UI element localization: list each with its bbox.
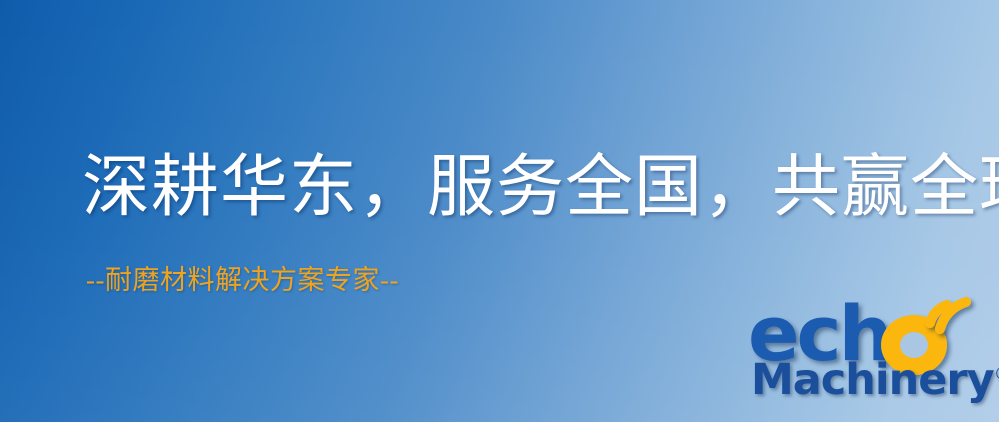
hero-banner: 深耕华东，服务全国，共赢全球 --耐磨材料解决方案专家-- ech <box>0 0 999 422</box>
logo-subword: Machinery® <box>751 359 999 402</box>
banner-headline: 深耕华东，服务全国，共赢全球 <box>82 152 999 223</box>
banner-subtitle: --耐磨材料解决方案专家-- <box>86 266 399 296</box>
echo-machinery-logo[interactable]: ech Machinery® <box>748 296 999 422</box>
registered-trademark-icon: ® <box>994 363 999 385</box>
logo-subword-text: Machinery <box>751 355 994 405</box>
